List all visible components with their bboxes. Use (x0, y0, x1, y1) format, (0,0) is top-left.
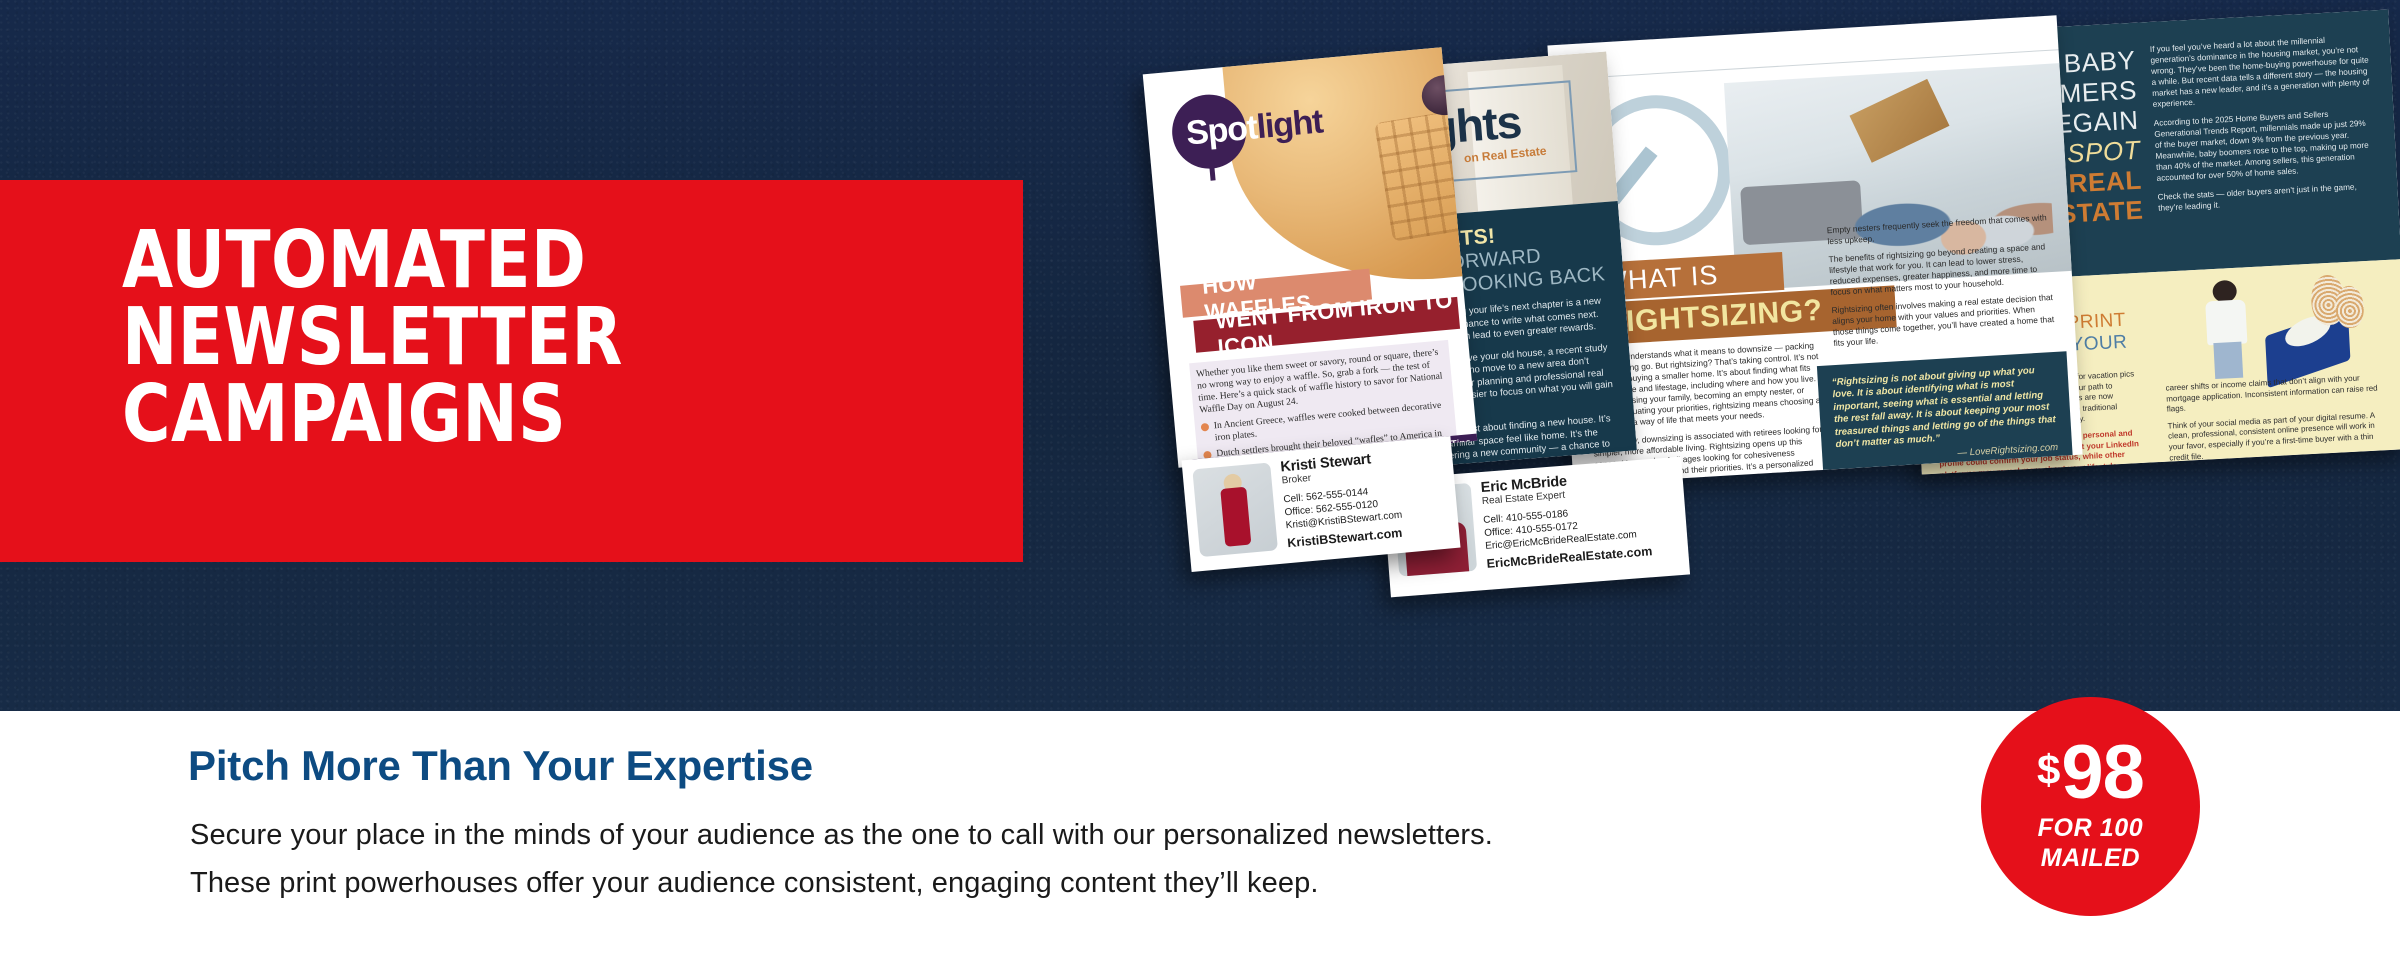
section-paragraph: Secure your place in the minds of your a… (190, 811, 1890, 907)
price-badge-currency: $ (2037, 749, 2059, 791)
waffle-photo (1219, 47, 1478, 296)
rs-quote-text: “Rightsizing is not about giving up what… (1832, 365, 2056, 450)
section-paragraph-line-2: These print powerhouses offer your audie… (190, 859, 1890, 907)
section-heading: Pitch More Than Your Expertise (188, 742, 813, 790)
hero-headline-line-3: CAMPAIGNS (122, 376, 959, 453)
df-para-6: So, before you apply, take a moment to e… (2170, 458, 2386, 474)
df-para-5: Think of your social media as part of yo… (2167, 410, 2384, 464)
agent-details: Eric McBride Real Estate Expert Cell: 41… (1480, 469, 1652, 570)
agent-details: Kristi Stewart Broker Cell: 562-555-0144… (1280, 451, 1404, 550)
rightsizing-pull-quote: “Rightsizing is not about giving up what… (1817, 351, 2073, 470)
price-badge[interactable]: $98 FOR 100 MAILED (1981, 697, 2200, 916)
price-badge-amount: $98 (2037, 741, 2144, 805)
section-paragraph-line-1: Secure your place in the minds of your a… (190, 811, 1890, 859)
fingerprint-icon-2 (2335, 285, 2365, 328)
price-badge-line-2: MAILED (2041, 843, 2140, 873)
rs-para-5: The benefits of rightsizing go beyond cr… (1828, 241, 2055, 298)
newsletter-stack: BABY BOOMERS REGAIN TOP SPOT IN REAL EST… (1150, 0, 2400, 711)
person-body-icon (2205, 299, 2247, 345)
avatar-suit (1220, 487, 1251, 547)
agent-card-inner: Kristi Stewart Broker Cell: 562-555-0144… (1181, 436, 1460, 569)
bb-para-3: Check the stats — older buyers aren’t ju… (2157, 180, 2378, 213)
hero-headline: AUTOMATED NEWSLETTER CAMPAIGNS (122, 222, 959, 453)
hero-headline-line-2: NEWSLETTER (122, 299, 959, 376)
price-badge-line-1: FOR 100 (2038, 813, 2144, 843)
fingerprint-illustration (2192, 271, 2378, 390)
digital-footprint-column-2: career shifts or income claims that don’… (2165, 372, 2386, 474)
bb-para-1: If you feel you’ve heard a lot about the… (2150, 32, 2373, 109)
spotlight-logo-spot: Spot (1185, 108, 1259, 152)
avatar (1192, 462, 1278, 557)
bullet-dot-icon (1201, 423, 1210, 432)
hero-headline-line-1: AUTOMATED (122, 222, 959, 299)
bb-para-2: According to the 2025 Home Buyers and Se… (2154, 106, 2377, 183)
rightsizing-column-2: Empty nesters frequently seek the freedo… (1827, 212, 2059, 349)
rs-para-6: Rightsizing often involves making a real… (1831, 292, 2058, 349)
newsletter-spotlight[interactable]: Spotlight HOW WAFFLES WENT FROM IRON TO … (1143, 47, 1478, 468)
person-legs-icon (2213, 342, 2243, 379)
price-badge-value: 98 (2061, 741, 2144, 805)
cardboard-box-shape (1849, 79, 1949, 163)
hero-banner: AUTOMATED NEWSLETTER CAMPAIGNS BABY BOOM… (0, 0, 2400, 711)
baby-boomers-body: If you feel you’ve heard a lot about the… (2150, 32, 2379, 213)
spotlight-logo-light: light (1255, 102, 1324, 146)
